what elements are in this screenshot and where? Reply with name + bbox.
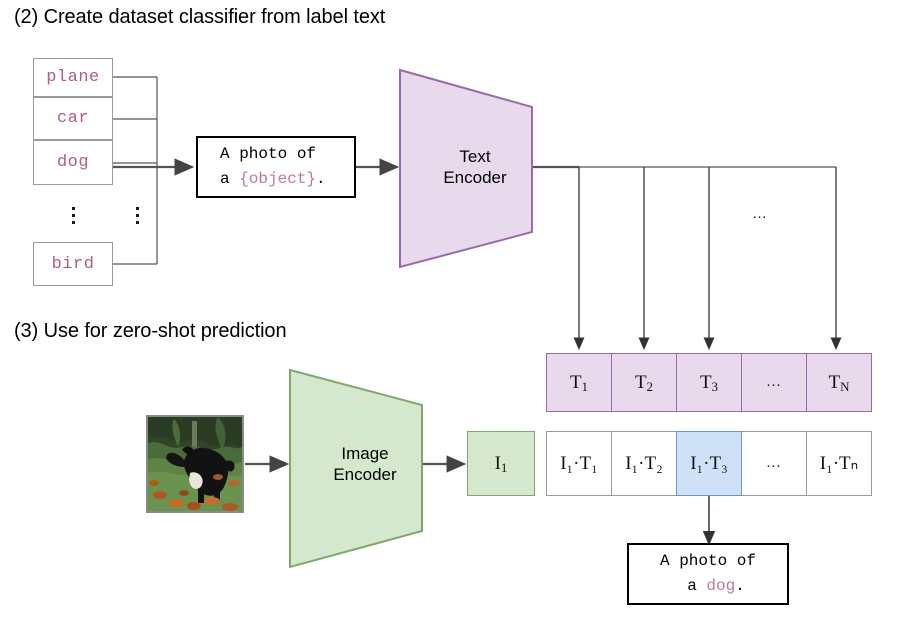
prediction-result-box[interactable]: A photo of a dog. <box>627 543 789 605</box>
prompt-template-box[interactable]: A photo of a {object}. <box>196 136 356 198</box>
text-embedding-cell-1[interactable]: T1 <box>546 353 612 412</box>
result-line-2-suffix: . <box>735 577 745 595</box>
text-embedding-cell-ellipsis: … <box>741 353 807 412</box>
text-embedding-cell-2[interactable]: T2 <box>611 353 677 412</box>
label-text: dog <box>57 153 89 172</box>
similarity-cell-text: I₁·T₁ <box>560 453 598 475</box>
diagram-canvas: (2) Create dataset classifier from label… <box>0 0 906 624</box>
input-photo[interactable] <box>146 415 244 513</box>
heading-step-2: (2) Create dataset classifier from label… <box>14 6 385 29</box>
label-box-dog[interactable]: dog <box>33 140 113 185</box>
text-embeddings-row: T1 T2 T3 … TN <box>546 353 872 412</box>
similarity-cell-2[interactable]: I₁·T₂ <box>611 431 677 496</box>
photo-artwork <box>148 417 242 511</box>
vertical-ellipsis-labels-icon <box>71 207 75 224</box>
cell-symbol: T <box>635 372 647 394</box>
similarity-cell-3-selected[interactable]: I₁·T₃ <box>676 431 742 496</box>
prompt-line-2-prefix: a <box>220 170 239 188</box>
result-class-token: dog <box>706 577 735 595</box>
vertical-ellipsis-bus-icon <box>135 207 139 224</box>
result-line-2: a dog. <box>687 574 745 599</box>
similarity-cell-n[interactable]: I₁·Tₙ <box>806 431 872 496</box>
result-line-2-prefix: a <box>687 577 706 595</box>
prompt-line-1: A photo of <box>220 142 316 167</box>
cell-symbol: T <box>700 372 712 394</box>
label-text: plane <box>46 68 100 87</box>
label-text: bird <box>52 255 95 274</box>
similarity-cell-text: I₁·Tₙ <box>820 452 858 475</box>
result-line-1: A photo of <box>660 549 756 574</box>
similarity-cell-1[interactable]: I₁·T₁ <box>546 431 612 496</box>
label-box-plane[interactable]: plane <box>33 58 113 97</box>
similarity-cell-ellipsis: … <box>741 431 807 496</box>
cell-symbol: T <box>570 372 582 394</box>
prompt-line-2-suffix: . <box>316 170 326 188</box>
image-encoder-shape[interactable] <box>286 364 428 574</box>
label-box-bird[interactable]: bird <box>33 242 113 286</box>
text-embedding-cell-3[interactable]: T3 <box>676 353 742 412</box>
prompt-object-token: {object} <box>239 170 316 188</box>
similarity-cell-text: I₁·T₂ <box>625 453 663 475</box>
image-embedding-symbol: I <box>495 453 501 475</box>
cell-symbol: … <box>766 374 782 391</box>
text-encoder-shape[interactable] <box>396 64 538 274</box>
cell-symbol: T <box>829 372 841 394</box>
similarity-row: I₁·T₁ I₁·T₂ I₁·T₃ … I₁·Tₙ <box>546 431 872 496</box>
similarity-cell-text: I₁·T₃ <box>690 453 728 475</box>
label-text: car <box>57 109 89 128</box>
text-embedding-cell-n[interactable]: TN <box>806 353 872 412</box>
similarity-cell-text: … <box>766 455 782 472</box>
image-embedding-box[interactable]: I1 <box>467 431 535 496</box>
label-box-car[interactable]: car <box>33 97 113 140</box>
bus-ellipsis: … <box>752 205 768 222</box>
prompt-line-2: a {object}. <box>220 167 326 192</box>
heading-step-3: (3) Use for zero-shot prediction <box>14 320 286 343</box>
